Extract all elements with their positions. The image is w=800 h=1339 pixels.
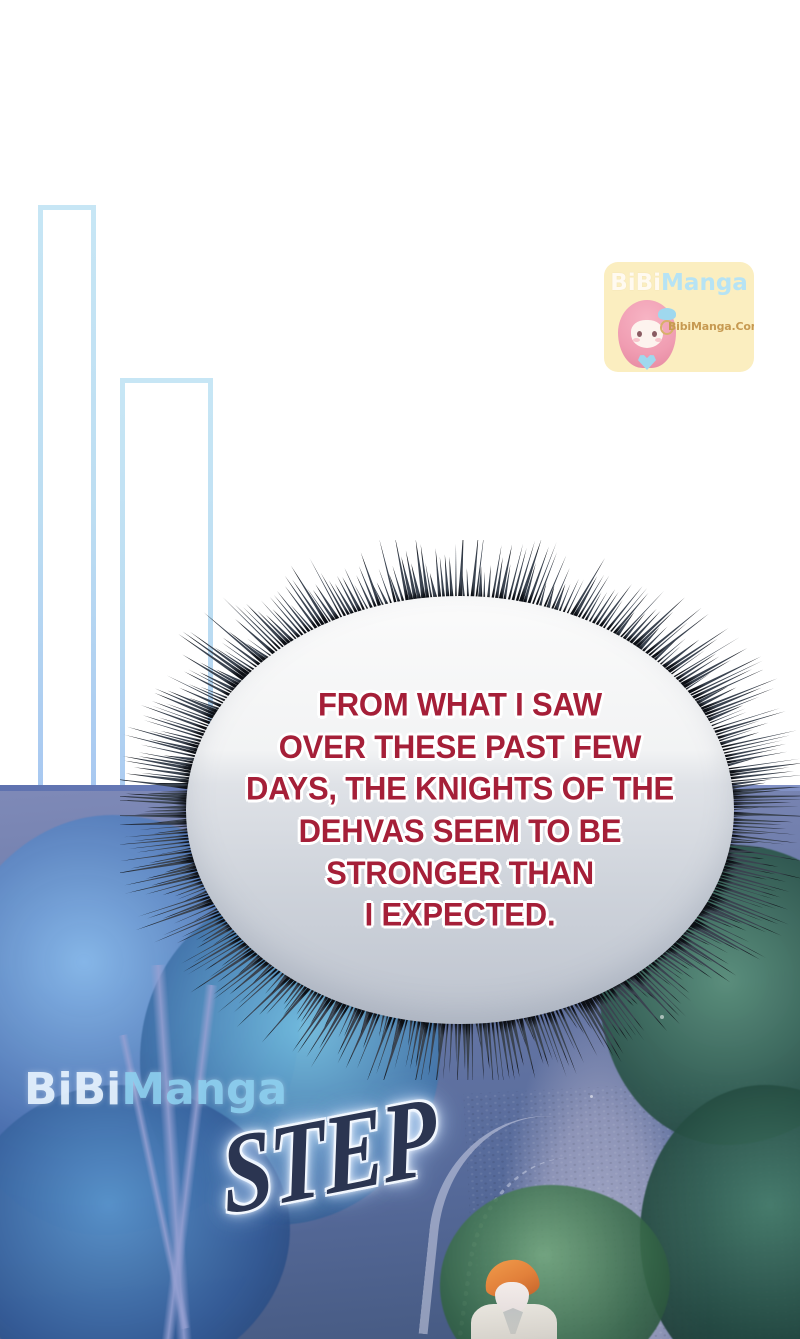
watermark-bibi-text: BiBi (24, 1064, 121, 1115)
speech-bubble-container: FROM WHAT I SAW OVER THESE PAST FEW DAYS… (120, 540, 800, 1080)
logo-url-text: BibiManga.Com (668, 320, 754, 333)
mascot-face (631, 320, 663, 348)
mascot-eye-left (637, 331, 642, 337)
bibimanga-logo-badge[interactable]: BiBiManga BibiManga.Com (604, 262, 754, 372)
speech-bubble: FROM WHAT I SAW OVER THESE PAST FEW DAYS… (186, 596, 734, 1024)
bokeh-dot (590, 1095, 593, 1098)
logo-title-bibi: BiBi (610, 270, 661, 296)
logo-title-manga: Manga (661, 270, 748, 296)
mascot-blush-right (655, 338, 662, 342)
character-orange-haired-man (455, 1260, 575, 1339)
mascot-eye-right (652, 331, 657, 337)
logo-title: BiBiManga (604, 272, 754, 295)
watermark-bottom-left: BiBiManga (24, 1068, 287, 1112)
watermark-manga-text: Manga (121, 1064, 287, 1115)
mascot-blush-left (633, 338, 640, 342)
mascot-chibi-girl-icon (614, 300, 680, 372)
mascot-hair-bow (658, 308, 676, 320)
speech-bubble-text: FROM WHAT I SAW OVER THESE PAST FEW DAYS… (222, 684, 698, 936)
comic-page: FROM WHAT I SAW OVER THESE PAST FEW DAYS… (0, 0, 800, 1339)
